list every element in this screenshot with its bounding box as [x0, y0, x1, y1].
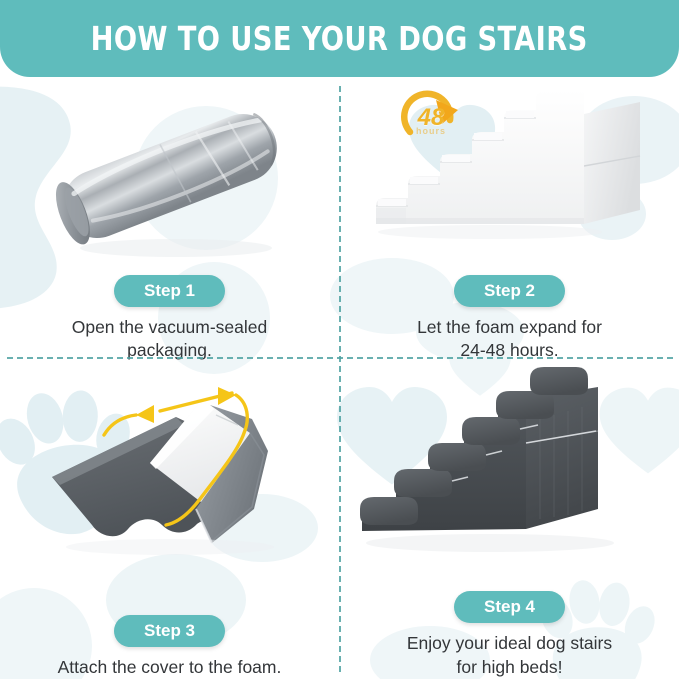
- step-4-illustration: [340, 359, 679, 591]
- infographic-canvas: HOW TO USE YOUR DOG STAIRS: [0, 0, 679, 679]
- step-1-cell: Step 1 Open the vacuum-sealed packaging.: [0, 80, 339, 357]
- step-1-caption: Open the vacuum-sealed packaging.: [72, 316, 268, 363]
- 48-hours-timer-badge: 48 hours: [392, 86, 470, 148]
- step-2-caption: Let the foam expand for 24-48 hours.: [417, 316, 602, 363]
- step-4-cell: Step 4 Enjoy your ideal dog stairs for h…: [340, 359, 679, 679]
- vacuum-sealed-roll-icon: [0, 80, 339, 270]
- cover-attach-icon: [0, 359, 339, 574]
- step-4-caption: Enjoy your ideal dog stairs for high bed…: [407, 632, 612, 679]
- step-2-illustration: 48 hours: [340, 80, 679, 275]
- vertical-divider: [339, 86, 341, 672]
- step-3-caption: Attach the cover to the foam.: [58, 656, 282, 679]
- step-1-badge: Step 1: [114, 275, 225, 307]
- page-title: HOW TO USE YOUR DOG STAIRS: [91, 19, 588, 58]
- step-3-illustration: [0, 359, 339, 615]
- timer-unit: hours: [392, 126, 470, 136]
- step-2-cell: 48 hours Step 2 Let the foam expand for …: [340, 80, 679, 357]
- header-banner: HOW TO USE YOUR DOG STAIRS: [0, 0, 679, 77]
- step-2-badge: Step 2: [454, 275, 565, 307]
- step-1-illustration: [0, 80, 339, 275]
- finished-dog-stairs-icon: [340, 359, 679, 574]
- step-3-cell: Step 3 Attach the cover to the foam.: [0, 359, 339, 679]
- step-3-badge: Step 3: [114, 615, 225, 647]
- horizontal-divider: [7, 357, 673, 359]
- white-foam-stairs-icon: [340, 80, 679, 270]
- step-4-badge: Step 4: [454, 591, 565, 623]
